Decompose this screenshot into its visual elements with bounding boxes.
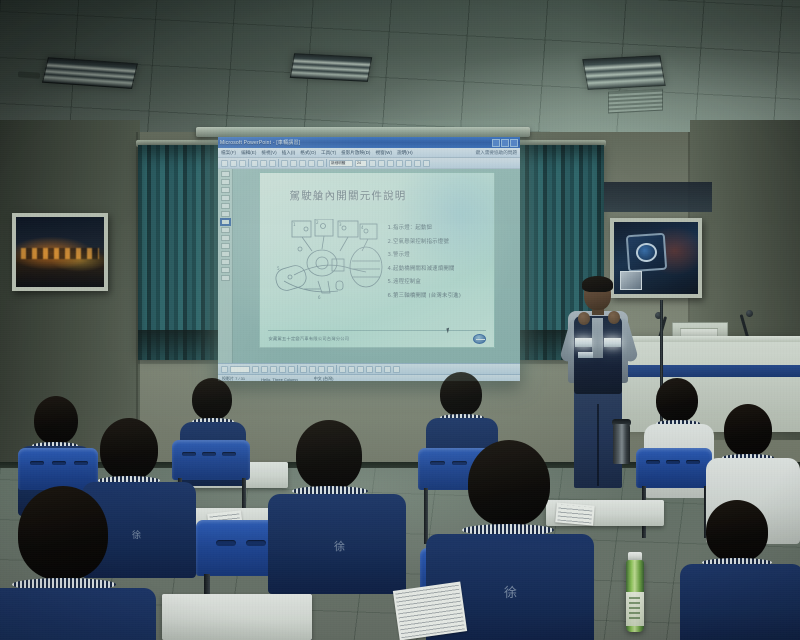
font-name-select[interactable]: 新細明體 <box>329 160 353 167</box>
copy-icon[interactable] <box>290 160 297 167</box>
projection-screen[interactable]: Microsoft PowerPoint - [車輛講習] 檔案(F) 編輯(E… <box>218 137 520 381</box>
menu-item-slideshow[interactable]: 投影片放映(D) <box>341 150 370 156</box>
student-uniform <box>680 564 800 640</box>
vest-reflective-stripe-left <box>575 338 592 347</box>
student-head <box>34 396 78 444</box>
current-slide[interactable]: 駕駛艙內開關元件說明 <box>259 172 495 348</box>
svg-text:4: 4 <box>361 225 364 230</box>
volvo-circle-icon <box>635 242 658 263</box>
slide-footer-divider <box>268 330 486 331</box>
diagram-icon[interactable] <box>309 366 316 373</box>
cockpit-dashboard-diagram: 12 34 56 <box>274 219 386 311</box>
presenter-leg-gap <box>597 404 599 486</box>
student-head <box>296 420 362 490</box>
uniform-back-character: 徐 <box>504 582 517 601</box>
handout-page-b[interactable] <box>555 502 595 525</box>
presenter-hand-right <box>608 311 620 324</box>
slide-thumbnail[interactable] <box>221 227 230 233</box>
slide-thumbnail[interactable] <box>221 243 230 249</box>
chair-slot <box>452 461 467 465</box>
clipart-icon[interactable] <box>318 366 325 373</box>
menu-item-tools[interactable]: 工具(T) <box>321 150 336 156</box>
slide-thumbnail[interactable] <box>221 187 230 193</box>
redo-icon[interactable] <box>317 160 324 167</box>
align-left-icon[interactable] <box>396 160 403 167</box>
wordart-icon[interactable] <box>300 366 307 373</box>
student-head <box>18 486 108 580</box>
align-center-icon[interactable] <box>405 160 412 167</box>
new-file-icon[interactable] <box>221 160 228 167</box>
paper-text-lines <box>395 584 465 638</box>
cut-icon[interactable] <box>281 160 288 167</box>
curtain-shadow-left <box>138 330 220 364</box>
slide-bullet-6: 6.第三軸橋開關 (台灣未引進) <box>388 291 492 299</box>
font-size-select[interactable]: 24 <box>355 160 367 167</box>
ppt-drawing-toolbar[interactable] <box>218 363 520 374</box>
chair-slot <box>202 452 216 456</box>
restore-icon[interactable] <box>501 139 509 147</box>
slide-thumbnail[interactable] <box>221 211 230 217</box>
svg-text:2: 2 <box>316 220 319 225</box>
slide-thumbnail[interactable] <box>221 251 230 257</box>
print-preview-icon[interactable] <box>260 160 267 167</box>
mouse-cursor-icon <box>446 328 450 334</box>
slide-thumbnail-selected[interactable] <box>221 219 230 225</box>
chair-slot <box>246 540 266 546</box>
volvo-oval-logo-icon <box>473 334 486 344</box>
chair-slot <box>52 461 66 465</box>
chair-slot <box>686 460 700 464</box>
student-head <box>656 378 698 422</box>
open-file-icon[interactable] <box>230 160 237 167</box>
chair[interactable] <box>172 440 250 480</box>
student-head <box>100 418 158 480</box>
handout-page-c[interactable] <box>393 582 467 640</box>
italic-icon[interactable] <box>378 160 385 167</box>
shadow-style-icon[interactable] <box>384 366 391 373</box>
presenter-name-badge <box>578 352 593 358</box>
slide-bullet-list: 1.指示燈：起動鈕 2.空氣懸架控制指示燈號 3.警示燈 4.起動橋開關和減速煩… <box>388 223 492 299</box>
menu-item-help[interactable]: 說明(H) <box>397 150 413 156</box>
autoshapes-menu[interactable] <box>230 366 250 373</box>
slide-bullet-2: 2.空氣懸架控制指示燈號 <box>388 237 492 245</box>
font-color-icon[interactable] <box>357 366 364 373</box>
student-head <box>724 404 772 456</box>
slide-indicator: 投影片 7 / 31 <box>222 376 245 381</box>
toolbar-separator <box>336 365 337 373</box>
teal-curtain-left <box>138 145 220 360</box>
increase-font-icon[interactable] <box>423 160 430 167</box>
design-template-label: Hello, Three Column <box>261 377 298 382</box>
ppt-workspace: 駕駛艙內開關元件說明 <box>218 169 520 363</box>
minimize-icon[interactable] <box>492 139 500 147</box>
slide-title: 駕駛艙內開關元件說明 <box>290 188 407 203</box>
menu-item-window[interactable]: 視窗(W) <box>375 150 392 156</box>
microphone-head-right <box>746 310 753 317</box>
svg-text:6: 6 <box>318 295 321 300</box>
student-head <box>192 378 232 420</box>
ppt-titlebar: Microsoft PowerPoint - [車輛講習] <box>218 137 520 148</box>
poster-left <box>12 213 108 291</box>
chair-slot <box>666 460 680 464</box>
student-uniform <box>0 588 156 640</box>
undo-icon[interactable] <box>308 160 315 167</box>
student-head <box>440 372 482 416</box>
svg-text:1: 1 <box>293 222 296 227</box>
slide-bullet-5: 5.遠程控制盒 <box>388 277 492 285</box>
student-head <box>468 440 550 526</box>
slide-stage: 駕駛艙內開關元件說明 <box>233 169 520 363</box>
spellcheck-icon[interactable] <box>269 160 276 167</box>
svg-text:3: 3 <box>339 222 342 227</box>
slide-thumbnail[interactable] <box>221 171 230 177</box>
3d-style-icon[interactable] <box>393 366 400 373</box>
line-icon[interactable] <box>252 366 259 373</box>
bold-icon[interactable] <box>369 160 376 167</box>
slide-thumbnail[interactable] <box>221 203 230 209</box>
help-search-box[interactable]: 鍵入需要協助的問題 <box>476 150 517 156</box>
presenter-hair <box>582 276 613 292</box>
slide-thumbnail[interactable] <box>221 267 230 273</box>
slide-thumbnail[interactable] <box>221 235 230 241</box>
dash-style-icon[interactable] <box>375 366 382 373</box>
menu-item-edit[interactable]: 編輯(E) <box>241 150 256 156</box>
front-counter-top <box>620 336 800 342</box>
vest-reflective-stripe-right <box>604 338 621 347</box>
metal-thermos[interactable] <box>613 424 630 464</box>
chair-slot <box>430 461 445 465</box>
toolbar-separator <box>326 159 327 167</box>
slide-bullet-4: 4.起動橋開關和減速煩開關 <box>388 264 492 272</box>
student-head <box>706 500 768 562</box>
uniform-back-character: 徐 <box>132 528 141 541</box>
close-icon[interactable] <box>510 139 518 147</box>
bottle-label <box>626 592 644 626</box>
window-controls[interactable] <box>492 139 518 147</box>
front-counter <box>622 340 800 432</box>
presenter-hand-left <box>578 312 590 325</box>
desk[interactable] <box>162 594 312 640</box>
slide-bullet-3: 3.警示燈 <box>388 250 492 258</box>
toolbar-separator <box>297 365 298 373</box>
language-label: 中文 (台灣) <box>314 376 334 381</box>
volvo-logo-card-icon <box>626 232 667 272</box>
slide-thumbnail[interactable] <box>221 259 230 265</box>
oval-icon[interactable] <box>279 366 286 373</box>
toolbar-separator <box>278 159 279 167</box>
line-color-icon[interactable] <box>348 366 355 373</box>
menu-item-insert[interactable]: 插入(I) <box>282 150 296 156</box>
chair-slot <box>216 540 236 546</box>
chair-slot <box>222 452 236 456</box>
paste-icon[interactable] <box>299 160 306 167</box>
save-icon[interactable] <box>239 160 246 167</box>
slide-thumbnail[interactable] <box>221 275 230 281</box>
slide-thumbnail-panel[interactable] <box>218 169 233 363</box>
ppt-title-text: Microsoft PowerPoint - [車輛講習] <box>220 139 300 146</box>
menu-item-file[interactable]: 檔案(F) <box>221 150 236 156</box>
select-arrow-icon[interactable] <box>221 366 228 373</box>
line-style-icon[interactable] <box>366 366 373 373</box>
menu-item-view[interactable]: 檢視(V) <box>261 150 276 156</box>
chair-slot <box>182 452 196 456</box>
poster-left-art <box>16 217 104 287</box>
paper-text-lines <box>557 505 592 524</box>
chair-leg <box>424 488 428 544</box>
wall-panel-strip <box>604 182 712 212</box>
chair[interactable] <box>636 448 712 488</box>
underline-icon[interactable] <box>387 160 394 167</box>
dashboard-svg: 12 34 56 <box>274 219 386 311</box>
ppt-menubar[interactable]: 檔案(F) 編輯(E) 檢視(V) 插入(I) 格式(O) 工具(T) 投影片放… <box>218 148 520 158</box>
menu-item-format[interactable]: 格式(O) <box>300 150 316 156</box>
picture-icon[interactable] <box>327 366 334 373</box>
chair-slot <box>646 460 660 464</box>
textbox-icon[interactable] <box>288 366 295 373</box>
front-counter-stripe <box>622 365 800 377</box>
uniform-back-character: 徐 <box>334 538 345 554</box>
chair-slot <box>74 461 88 465</box>
classroom-photo: Microsoft PowerPoint - [車輛講習] 檔案(F) 編輯(E… <box>0 0 800 640</box>
chair-slot <box>30 461 44 465</box>
rectangle-icon[interactable] <box>270 366 277 373</box>
ppt-standard-toolbar[interactable]: 新細明體 24 <box>218 158 520 169</box>
arrow-icon[interactable] <box>261 366 268 373</box>
print-icon[interactable] <box>251 160 258 167</box>
projector-screen-housing <box>196 127 530 137</box>
toolbar-separator <box>248 159 249 167</box>
fill-color-icon[interactable] <box>339 366 346 373</box>
slide-footer-text: 安藏駕五十定變汽車有限公司台灣分公司 <box>269 336 350 342</box>
bullet-list-icon[interactable] <box>414 160 421 167</box>
slide-thumbnail[interactable] <box>221 179 230 185</box>
slide-thumbnail[interactable] <box>221 195 230 201</box>
presenter-vest-opening <box>592 318 603 358</box>
slide-bullet-1: 1.指示燈：起動鈕 <box>388 223 492 231</box>
